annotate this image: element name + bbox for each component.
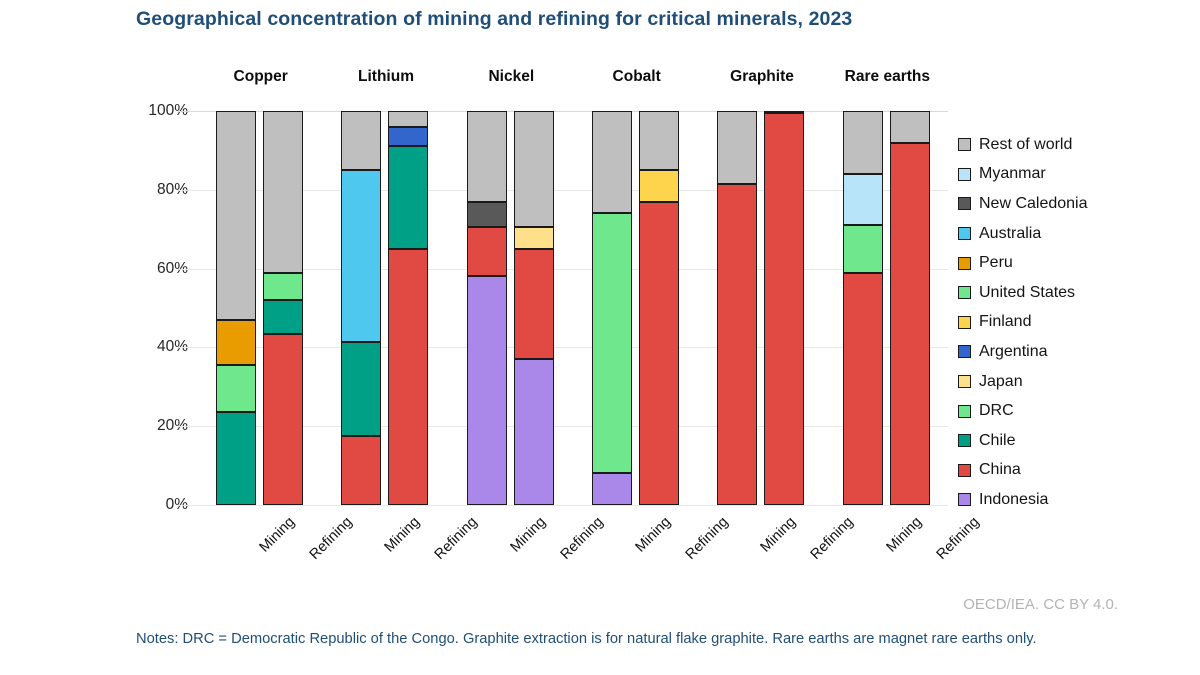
bar-segment-myanmar[interactable]: [843, 174, 883, 225]
notes-text: Notes: DRC = Democratic Republic of the …: [136, 629, 1106, 650]
legend: Rest of worldMyanmarNew CaledoniaAustral…: [958, 130, 1198, 515]
bar-segment-china[interactable]: [263, 334, 303, 505]
legend-item-finland[interactable]: Finland: [958, 308, 1198, 338]
bar-segment-united-states[interactable]: [843, 225, 883, 272]
x-axis-tick-label-mining: Mining: [507, 514, 549, 556]
legend-item-label: Myanmar: [979, 165, 1046, 183]
bar-segment-new-caledonia[interactable]: [467, 202, 507, 228]
legend-swatch-icon: [958, 316, 971, 329]
x-axis-tick-label-refining: Refining: [808, 514, 857, 563]
bar-lithium-mining[interactable]: [341, 111, 381, 505]
bar-segment-china[interactable]: [514, 249, 554, 359]
page-title: Geographical concentration of mining and…: [136, 8, 852, 31]
bar-segment-chile[interactable]: [263, 300, 303, 333]
bar-copper-refining[interactable]: [263, 111, 303, 505]
bar-copper-mining[interactable]: [216, 111, 256, 505]
legend-item-china[interactable]: China: [958, 456, 1198, 486]
legend-item-new-caledonia[interactable]: New Caledonia: [958, 189, 1198, 219]
x-axis-tick-label-mining: Mining: [382, 514, 424, 556]
legend-swatch-icon: [958, 405, 971, 418]
mineral-label-cobalt: Cobalt: [613, 68, 661, 86]
mineral-label-lithium: Lithium: [358, 68, 414, 86]
bar-lithium-refining[interactable]: [388, 111, 428, 505]
legend-item-label: New Caledonia: [979, 195, 1088, 213]
legend-item-label: Australia: [979, 225, 1041, 243]
mineral-label-rare-earths: Rare earths: [845, 68, 930, 86]
legend-item-chile[interactable]: Chile: [958, 426, 1198, 456]
credit-text: OECD/IEA. CC BY 4.0.: [963, 596, 1118, 613]
bar-segment-drc[interactable]: [592, 213, 632, 473]
legend-item-label: United States: [979, 284, 1075, 302]
legend-item-label: Indonesia: [979, 491, 1048, 509]
legend-item-indonesia[interactable]: Indonesia: [958, 485, 1198, 515]
bar-segment-drc[interactable]: [216, 365, 256, 412]
bar-segment-china[interactable]: [764, 113, 804, 505]
mineral-group-graphite: MiningRefining: [697, 111, 822, 505]
x-axis-tick-label-mining: Mining: [257, 514, 299, 556]
bar-graphite-mining[interactable]: [717, 111, 757, 505]
bar-segment-australia[interactable]: [341, 170, 381, 341]
bar-segment-chile[interactable]: [341, 342, 381, 437]
bar-segment-china[interactable]: [639, 202, 679, 505]
legend-item-peru[interactable]: Peru: [958, 248, 1198, 278]
legend-item-myanmar[interactable]: Myanmar: [958, 160, 1198, 190]
bar-rare-earths-refining[interactable]: [890, 111, 930, 505]
bar-segment-rest-of-world[interactable]: [890, 111, 930, 143]
bar-nickel-refining[interactable]: [514, 111, 554, 505]
legend-item-rest-of-world[interactable]: Rest of world: [958, 130, 1198, 160]
mineral-label-copper: Copper: [234, 68, 288, 86]
bar-segment-chile[interactable]: [216, 412, 256, 505]
legend-swatch-icon: [958, 197, 971, 210]
mineral-group-copper: MiningRefining: [196, 111, 321, 505]
bar-segment-china[interactable]: [341, 436, 381, 505]
bar-segment-rest-of-world[interactable]: [639, 111, 679, 170]
bar-segment-rest-of-world[interactable]: [216, 111, 256, 320]
bar-segment-rest-of-world[interactable]: [263, 111, 303, 273]
legend-swatch-icon: [958, 375, 971, 388]
legend-swatch-icon: [958, 227, 971, 240]
legend-swatch-icon: [958, 345, 971, 358]
bar-segment-rest-of-world[interactable]: [592, 111, 632, 213]
bar-segment-rest-of-world[interactable]: [388, 111, 428, 127]
mineral-group-nickel: MiningRefining: [447, 111, 572, 505]
x-axis-tick-label-refining: Refining: [933, 514, 982, 563]
bar-segment-indonesia[interactable]: [592, 473, 632, 505]
bar-segment-indonesia[interactable]: [467, 276, 507, 505]
x-axis-tick-label-refining: Refining: [683, 514, 732, 563]
bar-segment-rest-of-world[interactable]: [341, 111, 381, 170]
x-axis-tick-label-mining: Mining: [633, 514, 675, 556]
bar-cobalt-refining[interactable]: [639, 111, 679, 505]
legend-item-drc[interactable]: DRC: [958, 396, 1198, 426]
legend-item-japan[interactable]: Japan: [958, 367, 1198, 397]
bar-segment-finland[interactable]: [639, 170, 679, 202]
legend-swatch-icon: [958, 434, 971, 447]
legend-item-label: Argentina: [979, 343, 1048, 361]
bar-segment-peru[interactable]: [216, 320, 256, 365]
legend-swatch-icon: [958, 493, 971, 506]
legend-swatch-icon: [958, 257, 971, 270]
bar-segment-indonesia[interactable]: [514, 359, 554, 505]
bar-segment-china[interactable]: [843, 273, 883, 505]
legend-item-label: Finland: [979, 313, 1031, 331]
legend-swatch-icon: [958, 168, 971, 181]
bar-segment-rest-of-world[interactable]: [764, 111, 804, 113]
mineral-group-lithium: MiningRefining: [321, 111, 446, 505]
bar-rare-earths-mining[interactable]: [843, 111, 883, 505]
mineral-label-nickel: Nickel: [488, 68, 534, 86]
plot-area: MiningRefiningMiningRefiningMiningRefini…: [196, 111, 948, 505]
mineral-group-rare-earths: MiningRefining: [823, 111, 948, 505]
bar-segment-china[interactable]: [388, 249, 428, 505]
legend-item-label: China: [979, 461, 1021, 479]
bar-nickel-mining[interactable]: [467, 111, 507, 505]
legend-item-label: Rest of world: [979, 136, 1072, 154]
bar-graphite-refining[interactable]: [764, 111, 804, 505]
legend-swatch-icon: [958, 464, 971, 477]
bar-segment-rest-of-world[interactable]: [467, 111, 507, 202]
mineral-label-graphite: Graphite: [730, 68, 794, 86]
y-axis-labels: 0%20%40%60%80%100%: [140, 111, 188, 505]
bar-segment-argentina[interactable]: [388, 127, 428, 147]
legend-item-australia[interactable]: Australia: [958, 219, 1198, 249]
x-axis-tick-label-refining: Refining: [432, 514, 481, 563]
legend-swatch-icon: [958, 286, 971, 299]
x-axis-tick-label-mining: Mining: [758, 514, 800, 556]
bar-segment-rest-of-world[interactable]: [514, 111, 554, 227]
bar-segment-drc[interactable]: [263, 273, 303, 301]
x-axis-tick-label-mining: Mining: [883, 514, 925, 556]
gridline: [178, 505, 948, 506]
bar-segment-rest-of-world[interactable]: [717, 111, 757, 184]
bar-segment-china[interactable]: [717, 184, 757, 505]
legend-item-label: Peru: [979, 254, 1013, 272]
bar-segment-chile[interactable]: [388, 146, 428, 248]
bar-segment-china[interactable]: [890, 143, 930, 505]
legend-item-label: Chile: [979, 432, 1015, 450]
bar-segment-china[interactable]: [467, 227, 507, 276]
mineral-group-cobalt: MiningRefining: [572, 111, 697, 505]
legend-item-argentina[interactable]: Argentina: [958, 337, 1198, 367]
bar-segment-rest-of-world[interactable]: [843, 111, 883, 174]
legend-item-label: DRC: [979, 402, 1014, 420]
bar-segment-japan[interactable]: [514, 227, 554, 249]
legend-swatch-icon: [958, 138, 971, 151]
x-axis-tick-label-refining: Refining: [307, 514, 356, 563]
x-axis-tick-label-refining: Refining: [557, 514, 606, 563]
legend-item-label: Japan: [979, 373, 1023, 391]
legend-item-united-states[interactable]: United States: [958, 278, 1198, 308]
bar-cobalt-mining[interactable]: [592, 111, 632, 505]
